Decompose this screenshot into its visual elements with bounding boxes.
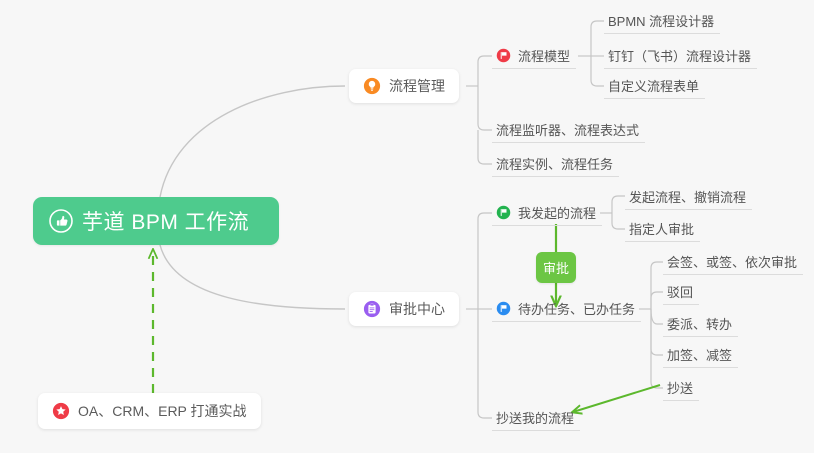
node-start-cancel-process[interactable]: 发起流程、撤销流程 [625,184,752,210]
node-cc-to-me-process[interactable]: 抄送我的流程 [492,405,580,431]
link-todo-to-countersign [651,262,663,309]
node-dingtalk-feishu-designer[interactable]: 钉钉（飞书）流程设计器 [604,43,757,69]
node-cc[interactable]: 抄送 [663,375,699,401]
node-label-todo-done-tasks: 待办任务、已办任务 [518,299,635,318]
node-label-custom-process-form: 自定义流程表单 [608,76,699,95]
root-node[interactable]: 芋道 BPM 工作流 [33,197,279,245]
node-label-start-cancel-process: 发起流程、撤销流程 [629,187,746,206]
node-todo-done-tasks[interactable]: 待办任务、已办任务 [492,296,641,322]
node-label-countersign-orsign-sequential: 会签、或签、依次审批 [667,252,797,271]
branch-node-approval-center[interactable]: 审批中心 [349,292,459,326]
link-pm-to-process-model [478,56,492,86]
star-icon [52,402,70,420]
node-assignee-approval[interactable]: 指定人审批 [625,216,700,242]
node-process-model[interactable]: 流程模型 [492,43,576,69]
node-label-process-listener-expression: 流程监听器、流程表达式 [496,120,639,139]
node-label-add-remove-sign: 加签、减签 [667,345,732,364]
node-label-delegate-transfer: 委派、转办 [667,314,732,333]
link-pm-to-instance [478,130,492,164]
lightbulb-icon [363,77,381,95]
node-delegate-transfer[interactable]: 委派、转办 [663,311,738,337]
node-label-cc-to-me-process: 抄送我的流程 [496,408,574,427]
link-todo-to-reject [651,292,663,309]
link-todo-to-cc [651,309,663,388]
flag-icon-green [496,205,511,220]
branch-node-process-management[interactable]: 流程管理 [349,69,459,103]
node-custom-process-form[interactable]: 自定义流程表单 [604,73,705,99]
node-label-cc: 抄送 [667,378,693,397]
node-label-my-initiated-process: 我发起的流程 [518,203,596,222]
flag-icon-red [496,48,511,63]
approval-badge-label: 审批 [543,258,569,277]
link-root-to-process-management [160,86,345,197]
link-model-to-custom-form [591,56,604,86]
node-process-listener-expression[interactable]: 流程监听器、流程表达式 [492,117,645,143]
node-bpmn-designer[interactable]: BPMN 流程设计器 [604,8,720,34]
thumbs-up-icon [49,209,73,233]
link-todo-to-addsign [651,309,663,355]
node-process-instance-task[interactable]: 流程实例、流程任务 [492,151,619,177]
node-label-process-instance-task: 流程实例、流程任务 [496,154,613,173]
node-label-dingtalk-feishu-designer: 钉钉（飞书）流程设计器 [608,46,751,65]
link-mine-to-assignee [612,213,625,229]
node-my-initiated-process[interactable]: 我发起的流程 [492,200,602,226]
branch-label-process-management: 流程管理 [389,76,445,96]
link-ac-to-my-initiated [478,213,492,309]
floating-node-oa-crm-erp[interactable]: OA、CRM、ERP 打通实战 [38,393,261,429]
link-mine-to-start-cancel [612,196,625,213]
node-add-remove-sign[interactable]: 加签、减签 [663,342,738,368]
flag-icon-blue [496,301,511,316]
link-todo-to-delegate [651,309,663,324]
node-label-bpmn-designer: BPMN 流程设计器 [608,11,714,30]
arrow-cc-to-cc-mine [573,385,660,412]
node-label-assignee-approval: 指定人审批 [629,219,694,238]
branch-label-approval-center: 审批中心 [389,299,445,319]
floating-label-oa-crm-erp: OA、CRM、ERP 打通实战 [78,401,247,421]
link-root-to-approval-center [160,245,345,309]
node-label-reject: 驳回 [667,282,693,301]
approval-badge[interactable]: 审批 [536,252,576,283]
link-pm-to-listener [478,86,492,130]
node-reject[interactable]: 驳回 [663,279,699,305]
node-countersign-orsign-sequential[interactable]: 会签、或签、依次审批 [663,249,803,275]
root-label: 芋道 BPM 工作流 [82,206,249,236]
node-label-process-model: 流程模型 [518,46,570,65]
clipboard-icon [363,300,381,318]
link-model-to-bpmn [591,21,604,56]
link-ac-to-cc-mine [478,309,492,418]
mindmap-canvas: 芋道 BPM 工作流 流程管理 流程模型 BPMN 流程设计器 钉钉（飞书 [0,0,814,453]
